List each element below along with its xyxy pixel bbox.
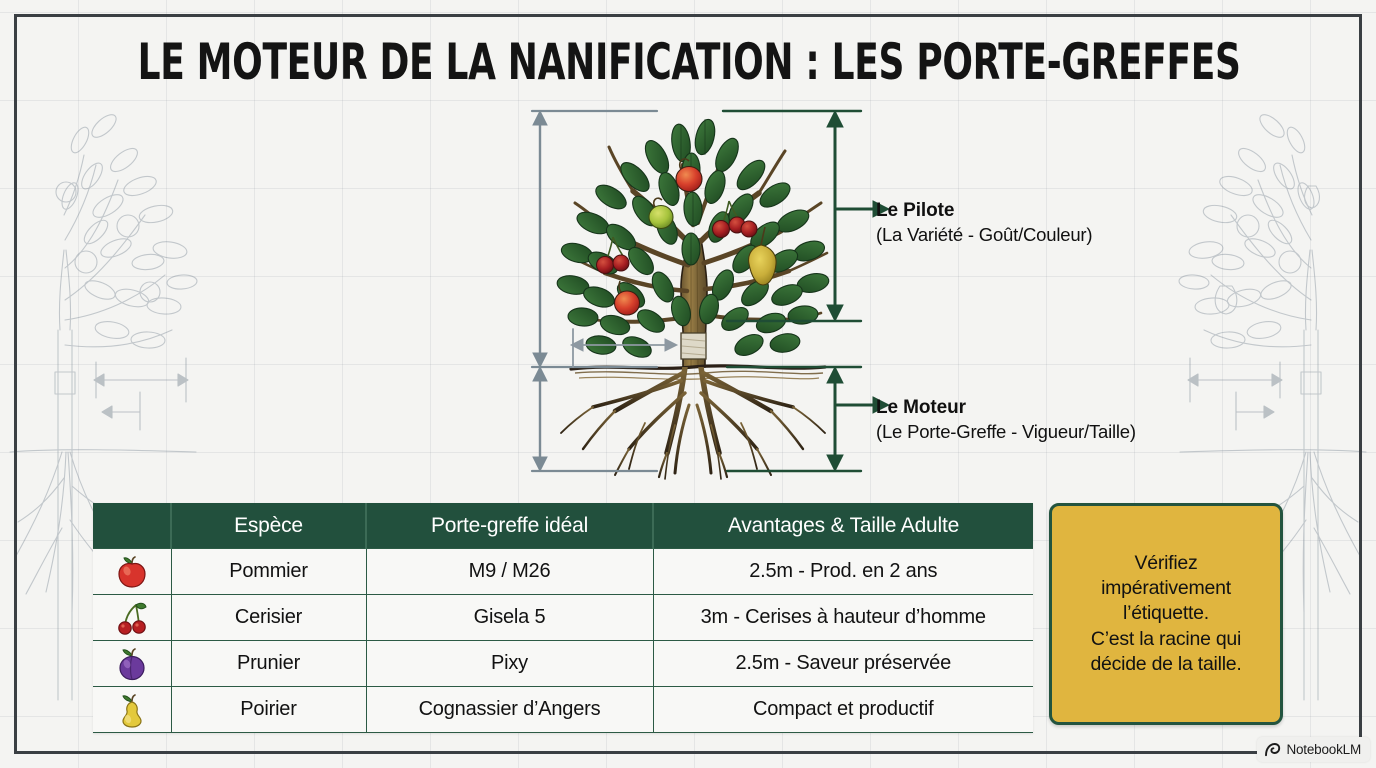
infographic-page: LE MOTEUR DE LA NANIFICATION : LES PORTE… <box>0 0 1376 768</box>
table-cell-avantages: 3m - Cerises à hauteur d’homme <box>653 595 1033 641</box>
table-header-avantages: Avantages & Taille Adulte <box>653 503 1033 549</box>
tree-roots <box>561 367 825 479</box>
table-header-porte-greffe: Porte-greffe idéal <box>366 503 653 549</box>
annotation-moteur: Le Moteur (Le Porte-Greffe - Vigueur/Tai… <box>876 397 1136 444</box>
plum-icon <box>93 641 171 687</box>
table-header-icon <box>93 503 171 549</box>
table-cell-espece: Cerisier <box>171 595 366 641</box>
warning-text: Vérifiez impérativement l’étiquette. C’e… <box>1080 551 1251 678</box>
annotation-pilote-subtitle: (La Variété - Goût/Couleur) <box>876 224 1092 246</box>
table-header-espece: Espèce <box>171 503 366 549</box>
rootstock-table-container: Espèce Porte-greffe idéal Avantages & Ta… <box>93 503 1033 733</box>
rootstock-table: Espèce Porte-greffe idéal Avantages & Ta… <box>93 503 1033 733</box>
notebooklm-label: NotebookLM <box>1286 742 1361 757</box>
table-row: Pommier M9 / M26 2.5m - Prod. en 2 ans <box>93 549 1033 595</box>
table-cell-porte-greffe: Gisela 5 <box>366 595 653 641</box>
table-cell-porte-greffe: Cognassier d’Angers <box>366 687 653 733</box>
table-header-row: Espèce Porte-greffe idéal Avantages & Ta… <box>93 503 1033 549</box>
pear-icon <box>93 687 171 733</box>
notebooklm-watermark: NotebookLM <box>1257 737 1370 762</box>
table-cell-espece: Pommier <box>171 549 366 595</box>
graft-union-icon <box>681 333 706 359</box>
notebooklm-icon <box>1264 742 1281 757</box>
page-title: LE MOTEUR DE LA NANIFICATION : LES PORTE… <box>138 33 1239 91</box>
grafted-fruit-tree-diagram <box>505 105 905 485</box>
table-cell-porte-greffe: M9 / M26 <box>366 549 653 595</box>
table-cell-avantages: Compact et productif <box>653 687 1033 733</box>
warning-box: Vérifiez impérativement l’étiquette. C’e… <box>1049 503 1283 725</box>
apple-icon <box>93 549 171 595</box>
annotation-pilote: Le Pilote (La Variété - Goût/Couleur) <box>876 200 1092 247</box>
annotation-pilote-title: Le Pilote <box>876 200 1092 222</box>
annotation-moteur-title: Le Moteur <box>876 397 1136 419</box>
table-cell-avantages: 2.5m - Prod. en 2 ans <box>653 549 1033 595</box>
table-row: Prunier Pixy 2.5m - Saveur préservée <box>93 641 1033 687</box>
table-cell-espece: Poirier <box>171 687 366 733</box>
table-row: Poirier Cognassier d’Angers Compact et p… <box>93 687 1033 733</box>
cherries-icon <box>93 595 171 641</box>
table-cell-porte-greffe: Pixy <box>366 641 653 687</box>
table-cell-espece: Prunier <box>171 641 366 687</box>
annotation-moteur-subtitle: (Le Porte-Greffe - Vigueur/Taille) <box>876 421 1136 443</box>
table-row: Cerisier Gisela 5 3m - Cerises à hauteur… <box>93 595 1033 641</box>
table-cell-avantages: 2.5m - Saveur préservée <box>653 641 1033 687</box>
